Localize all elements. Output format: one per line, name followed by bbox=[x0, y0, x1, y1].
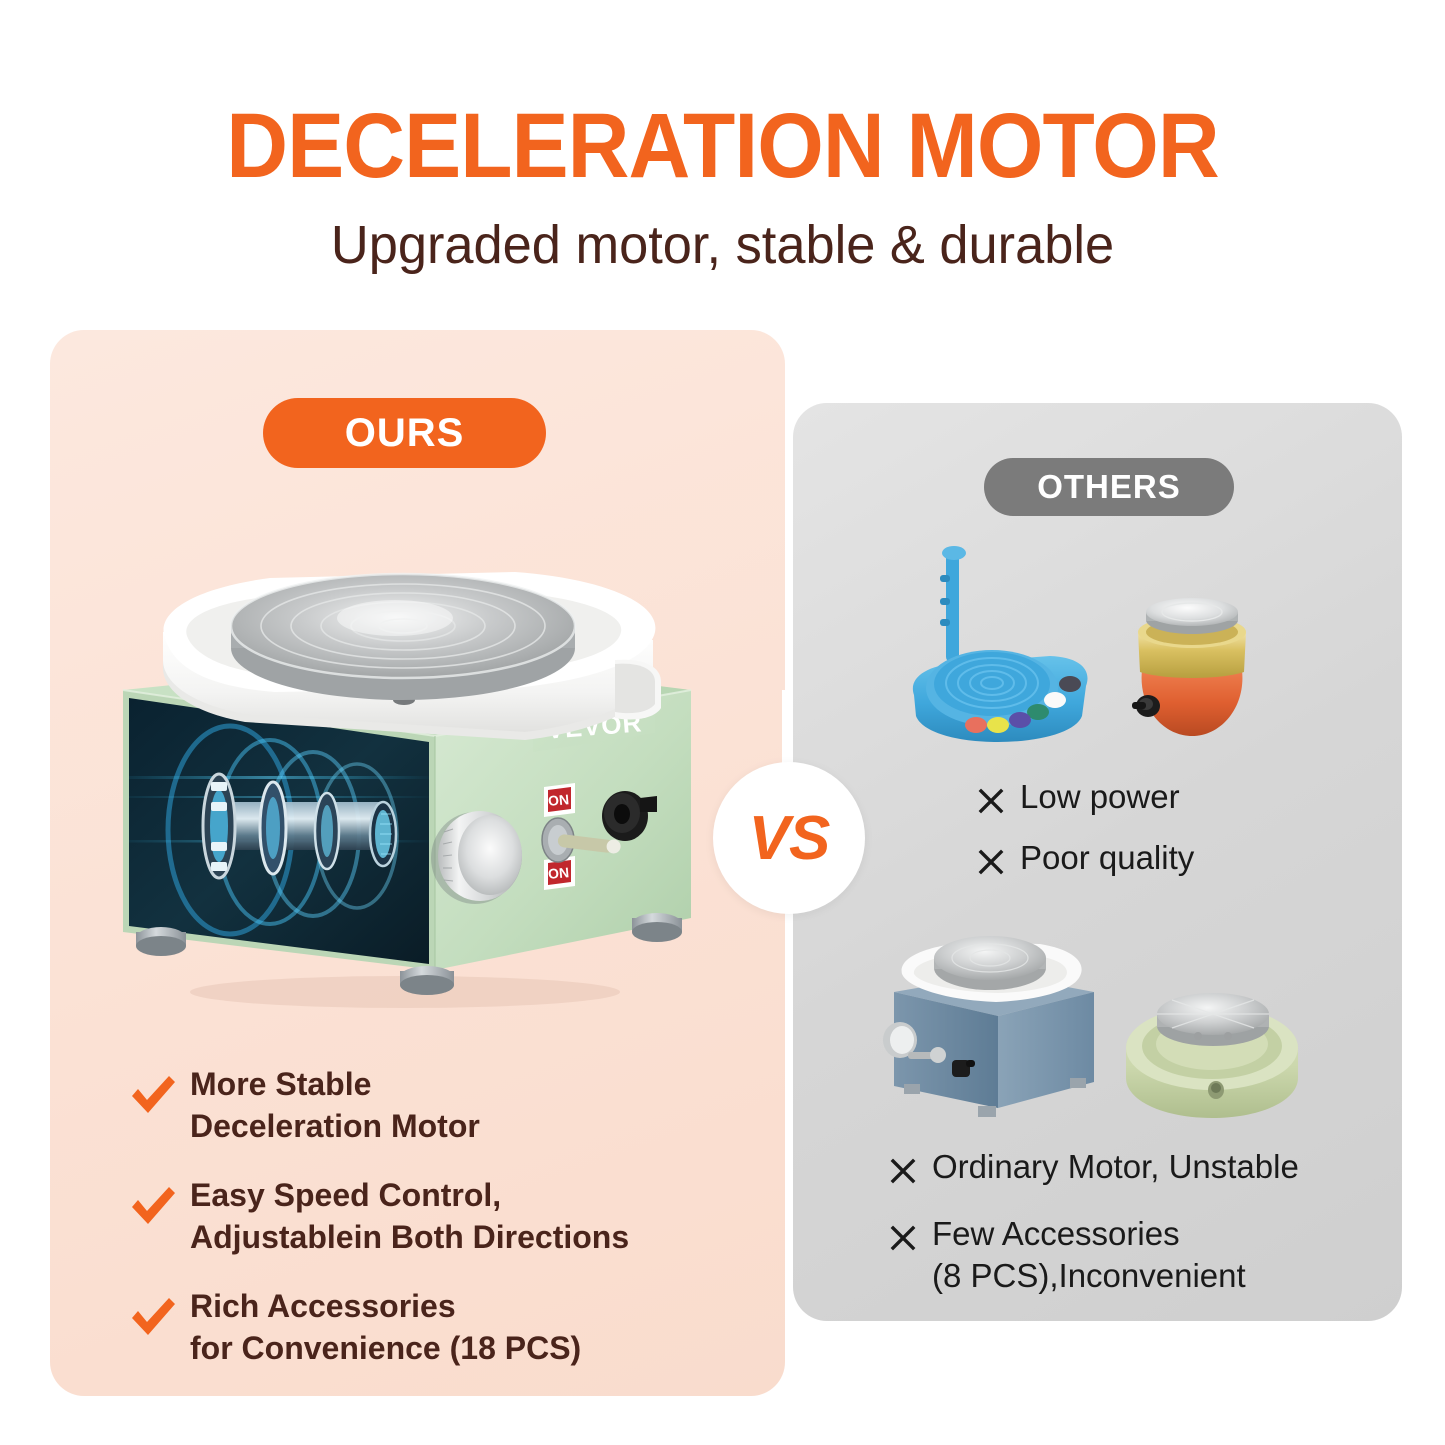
page-subtitle: Upgraded motor, stable & durable bbox=[22, 218, 1424, 272]
page-title: DECELERATION MOTOR bbox=[51, 100, 1395, 192]
others-cons-top-list: Low power Poor quality bbox=[976, 776, 1194, 898]
feature-text: Easy Speed Control, Adjustablein Both Di… bbox=[190, 1173, 629, 1258]
list-item: Low power bbox=[976, 776, 1194, 821]
list-item: Poor quality bbox=[976, 837, 1194, 882]
feature-text: More Stable Deceleration Motor bbox=[190, 1062, 480, 1147]
svg-text:ON: ON bbox=[547, 791, 569, 809]
competitor-blue-box-wheel bbox=[883, 936, 1094, 1117]
vs-badge: VS bbox=[713, 762, 865, 914]
list-item: Ordinary Motor, Unstable bbox=[888, 1146, 1299, 1191]
pottery-wheel-illustration: VEVOR ON bbox=[95, 540, 715, 1010]
con-text: Ordinary Motor, Unstable bbox=[932, 1146, 1299, 1188]
feature-text: Rich Accessories for Convenience (18 PCS… bbox=[190, 1284, 581, 1369]
ours-features-list: More Stable Deceleration Motor Easy Spee… bbox=[128, 1062, 768, 1396]
others-cons-bottom-list: Ordinary Motor, Unstable Few Accessories… bbox=[888, 1146, 1299, 1313]
badge-ours: OURS bbox=[263, 398, 546, 468]
check-icon bbox=[128, 1173, 190, 1234]
competitor-orange-gold-wheel bbox=[1132, 598, 1246, 736]
con-text: Poor quality bbox=[1020, 837, 1194, 879]
list-item: Easy Speed Control, Adjustablein Both Di… bbox=[128, 1173, 768, 1258]
competitor-green-round-wheel bbox=[1126, 993, 1298, 1118]
competitor-blue-toy-wheel bbox=[913, 546, 1088, 742]
header: DECELERATION MOTOR Upgraded motor, stabl… bbox=[0, 0, 1445, 272]
ours-product-image: VEVOR ON bbox=[95, 540, 715, 1010]
x-mark-icon bbox=[888, 1146, 932, 1191]
vs-label: VS bbox=[749, 803, 830, 874]
list-item: Rich Accessories for Convenience (18 PCS… bbox=[128, 1284, 768, 1369]
con-text: Few Accessories (8 PCS),Inconvenient bbox=[932, 1213, 1246, 1297]
competitor-bottom-illustration bbox=[880, 930, 1300, 1150]
others-products-bottom bbox=[880, 930, 1300, 1150]
svg-text:ON: ON bbox=[547, 864, 569, 882]
check-icon bbox=[128, 1062, 190, 1123]
motor-graphic-panel bbox=[105, 698, 435, 964]
list-item: Few Accessories (8 PCS),Inconvenient bbox=[888, 1213, 1299, 1297]
switch-on-label-top: ON bbox=[544, 783, 575, 817]
con-text: Low power bbox=[1020, 776, 1180, 818]
x-mark-icon bbox=[888, 1213, 932, 1258]
badge-others: OTHERS bbox=[984, 458, 1234, 516]
list-item: More Stable Deceleration Motor bbox=[128, 1062, 768, 1147]
x-mark-icon bbox=[976, 776, 1020, 821]
competitor-top-illustration bbox=[880, 520, 1300, 770]
others-products-top bbox=[880, 520, 1300, 770]
check-icon bbox=[128, 1284, 190, 1345]
x-mark-icon bbox=[976, 837, 1020, 882]
